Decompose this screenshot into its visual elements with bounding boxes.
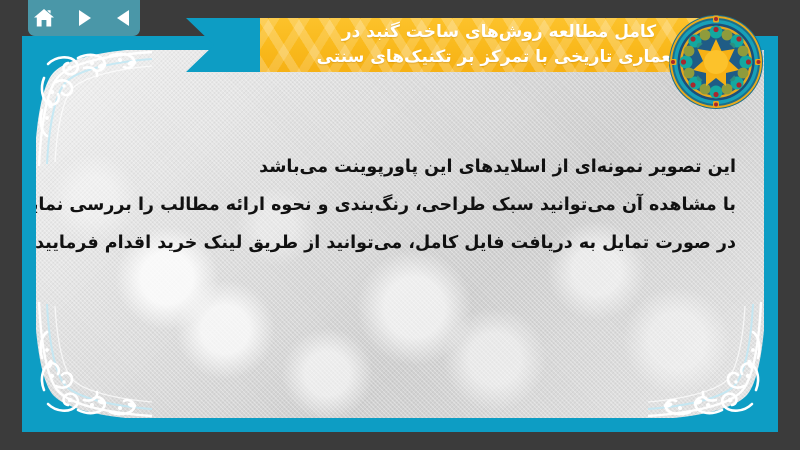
ribbon-tail-shape [186,18,264,72]
slide-canvas: این تصویر نمونه‌ای از اسلایدهای این پاور… [22,36,778,432]
body-line-1: این تصویر نمونه‌ای از اسلایدهای این پاور… [36,148,736,186]
previous-slide-button[interactable] [111,5,137,31]
arabesque-corner-icon-bottom-right [646,300,764,418]
slide-viewer: این تصویر نمونه‌ای از اسلایدهای این پاور… [0,0,800,450]
slide-title-line-2: معماری تاریخی با تمرکز بر تکنیک‌های سنتی [317,45,682,70]
title-banner: کامل مطالعه روش‌های ساخت گنبد در معماری … [260,18,706,72]
home-button[interactable] [31,5,57,31]
body-line-2: با مشاهده آن می‌توانید سبک طراحی، رنگ‌بن… [36,186,736,224]
home-icon [32,6,56,30]
title-ribbon: کامل مطالعه روش‌های ساخت گنبد در معماری … [186,0,706,72]
slide-background: این تصویر نمونه‌ای از اسلایدهای این پاور… [36,50,764,418]
body-line-3: در صورت تمایل به دریافت فایل کامل، می‌تو… [36,224,736,262]
arabesque-corner-icon-bottom-left [36,300,154,418]
persian-medallion-icon [668,14,764,110]
triangle-left-icon [113,7,135,29]
next-slide-button[interactable] [71,5,97,31]
slide-title-line-1: کامل مطالعه روش‌های ساخت گنبد در [342,20,656,45]
triangle-right-icon [73,7,95,29]
slide-body-text: این تصویر نمونه‌ای از اسلایدهای این پاور… [36,148,736,262]
navigation-toolbar [28,0,140,36]
